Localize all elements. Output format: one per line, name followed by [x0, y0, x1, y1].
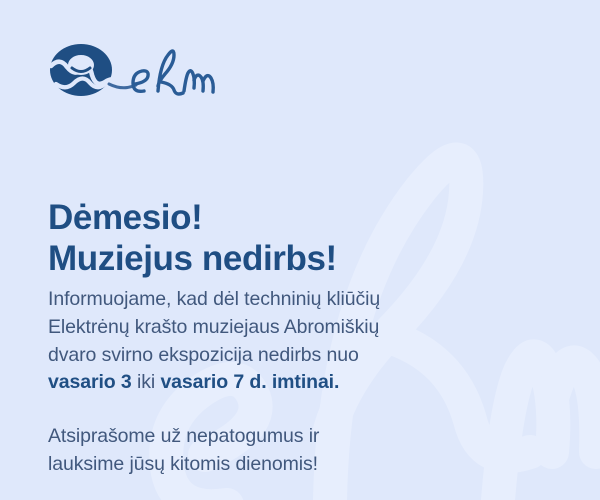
headline-line-1: Dėmesio!: [48, 198, 468, 239]
body-paragraph-1: Informuojame, kad dėl techninių kliūčių …: [48, 286, 468, 397]
body-line: lauksime jūsų kitomis dienomis!: [48, 451, 468, 479]
ekm-donut-mark: [50, 44, 119, 96]
date-separator: iki: [132, 371, 161, 393]
date-to: vasario 7 d. imtinai.: [160, 371, 339, 393]
body-line-dates: vasario 3 iki vasario 7 d. imtinai.: [48, 369, 468, 397]
date-from: vasario 3: [48, 371, 132, 393]
body-line: Informuojame, kad dėl techninių kliūčių: [48, 286, 468, 314]
paragraph-spacer: [48, 397, 468, 423]
logo-wordmark: [133, 51, 213, 94]
body-line: dvaro svirno ekspozicija nedirbs nuo: [48, 342, 468, 370]
poster-text-block: Dėmesio! Muziejus nedirbs! Informuojame,…: [48, 198, 468, 478]
body-line: Elektrėnų krašto muziejaus Abromiškių: [48, 314, 468, 342]
body-line: Atsiprašome už nepatogumus ir: [48, 423, 468, 451]
ekm-logo[interactable]: Elektrėnų krašto muziejus: [48, 40, 218, 106]
body-paragraph-2: Atsiprašome už nepatogumus ir lauksime j…: [48, 423, 468, 478]
headline-line-2: Muziejus nedirbs!: [48, 239, 468, 280]
announcement-poster: Elektrėnų krašto muziejus: [0, 0, 600, 500]
